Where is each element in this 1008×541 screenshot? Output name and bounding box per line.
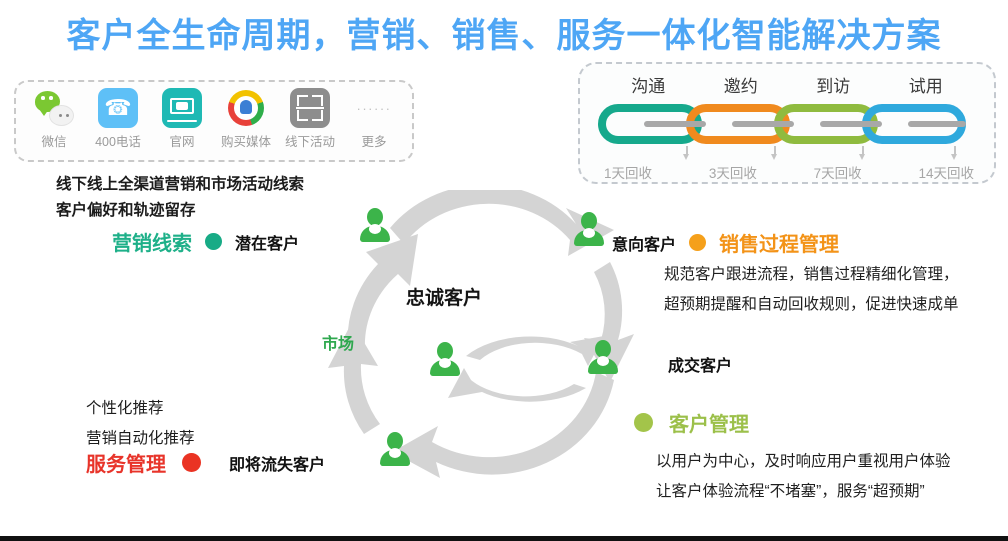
person-icon-intent <box>574 212 604 246</box>
chain-connector <box>908 121 966 127</box>
more-dots-glyph: ······ <box>357 101 392 116</box>
channel-label: 微信 <box>41 131 66 150</box>
chain-down-arrows <box>598 146 980 162</box>
channel-item-media[interactable]: 购买媒体 <box>217 88 275 150</box>
channel-label: 官网 <box>169 131 194 150</box>
person-icon-churn <box>380 432 410 466</box>
chain-stage-label: 沟通 <box>617 72 679 97</box>
closed-customer-group: 成交客户 <box>668 352 732 376</box>
marketing-leads-tag: 营销线索 <box>112 227 192 256</box>
chain-connector <box>820 121 882 127</box>
sales-process-tag: 销售过程管理 <box>719 228 839 257</box>
sales-desc-line-1: 规范客户跟进流程，销售过程精细化管理， <box>664 262 959 284</box>
chain-recycle-label: 14天回收 <box>918 162 974 182</box>
service-management-tag: 服务管理 <box>86 448 166 477</box>
channel-item-phone[interactable]: ☎ 400电话 <box>89 88 147 150</box>
customer-management-desc-line-2: 让客户体验流程“不堵塞”，服务“超预期” <box>656 479 925 501</box>
chain-recycle-label: 1天回收 <box>604 162 652 182</box>
chain-recycle-labels: 1天回收 3天回收 7天回收 14天回收 <box>590 162 988 182</box>
follow-up-chain-box: 沟通 邀约 到访 试用 1天回收 3天回收 7天回收 14天回收 <box>578 62 996 184</box>
service-dot-icon <box>182 453 201 472</box>
channel-item-offline[interactable]: 线下活动 <box>281 88 339 150</box>
left-note-line-1: 线下线上全渠道营销和市场活动线索 <box>56 172 304 194</box>
node-label-churn-customer: 即将流失客户 <box>229 451 325 475</box>
service-note-line-2: 营销自动化推荐 <box>86 426 195 448</box>
chain-stage-labels: 沟通 邀约 到访 试用 <box>580 72 994 97</box>
media-icon <box>226 88 266 128</box>
customer-management-tag: 客户管理 <box>669 408 749 437</box>
sales-desc-line-2: 超预期提醒和自动回收规则，促进快速成单 <box>664 292 959 314</box>
bottom-bar <box>0 536 1008 541</box>
service-note-line-1: 个性化推荐 <box>86 396 164 418</box>
chain-links <box>598 104 980 146</box>
website-icon <box>162 88 202 128</box>
phone-icon: ☎ <box>98 88 138 128</box>
chain-connector <box>732 121 794 127</box>
channel-item-more[interactable]: ······ 更多 <box>345 88 403 150</box>
chain-recycle-label: 3天回收 <box>709 162 757 182</box>
node-label-closed-customer: 成交客户 <box>668 352 732 376</box>
wechat-icon <box>34 88 74 128</box>
channel-label: 购买媒体 <box>221 131 271 150</box>
left-note-line-2: 客户偏好和轨迹留存 <box>56 198 196 220</box>
service-management-group: 服务管理 即将流失客户 <box>86 448 325 477</box>
channel-label: 更多 <box>361 131 386 150</box>
channel-label: 400电话 <box>95 131 141 150</box>
page-title: 客户全生命周期，营销、销售、服务一体化智能解决方案 <box>0 8 1008 57</box>
arrow-down-icon <box>950 146 959 161</box>
person-icon-loyal <box>430 342 460 376</box>
offline-scan-icon <box>290 88 330 128</box>
arrow-down-icon <box>858 146 867 161</box>
node-label-potential-customer: 潜在客户 <box>235 230 299 254</box>
marketing-dot-icon <box>205 233 222 250</box>
marketing-leads-group: 营销线索 潜在客户 <box>112 227 299 256</box>
more-dots-icon: ······ <box>354 88 394 128</box>
chain-stage-label: 邀约 <box>710 72 772 97</box>
chain-stage-label: 试用 <box>895 72 957 97</box>
arrow-down-icon <box>682 146 691 161</box>
chain-connector <box>644 121 706 127</box>
customer-management-desc-line-1: 以用户为中心，及时响应用户重视用户体验 <box>656 449 951 471</box>
slide-canvas: 客户全生命周期，营销、销售、服务一体化智能解决方案 微信 ☎ 400电话 <box>0 0 1008 541</box>
person-icon-potential <box>360 208 390 242</box>
sales-dot-icon <box>689 234 706 251</box>
channel-list: 微信 ☎ 400电话 官网 购买媒体 <box>16 88 412 150</box>
cycle-center-label: 忠诚客户 <box>406 283 482 310</box>
channel-sources-box: 微信 ☎ 400电话 官网 购买媒体 <box>14 80 414 162</box>
customer-lifecycle-diagram: 忠诚客户 市场 <box>318 190 658 490</box>
cycle-market-label: 市场 <box>322 330 354 354</box>
person-icon-closed <box>588 340 618 374</box>
channel-item-wechat[interactable]: 微信 <box>25 88 83 150</box>
channel-label: 线下活动 <box>285 131 335 150</box>
chain-stage-label: 到访 <box>802 72 864 97</box>
channel-item-website[interactable]: 官网 <box>153 88 211 150</box>
arrow-down-icon <box>770 146 779 161</box>
chain-recycle-label: 7天回收 <box>814 162 862 182</box>
